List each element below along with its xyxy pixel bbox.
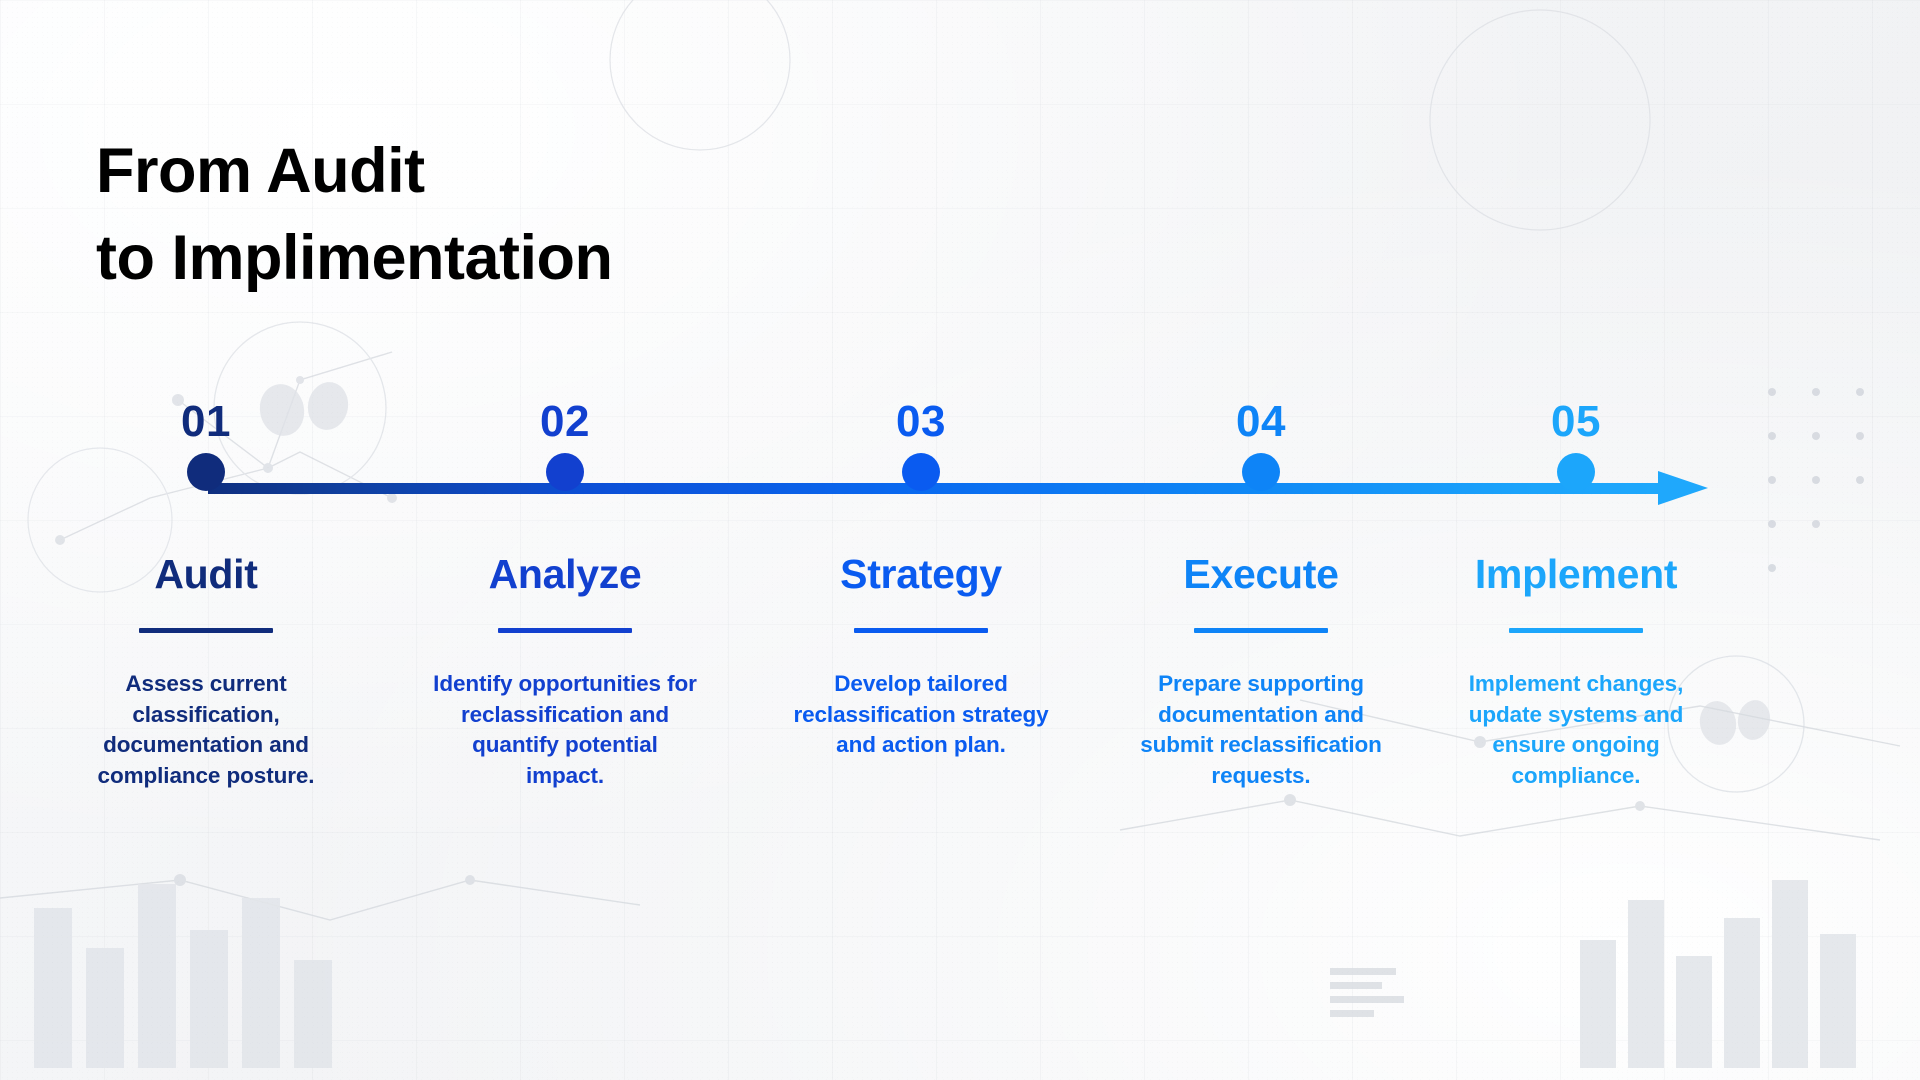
- step-number: 02: [415, 400, 715, 444]
- step-dot-icon[interactable]: [1242, 453, 1280, 491]
- timeline-step-01[interactable]: 01 Audit Assess current classification, …: [56, 400, 356, 791]
- step-dot-wrap: [1426, 444, 1726, 500]
- step-description: Identify opportunities for reclassificat…: [415, 669, 715, 791]
- step-dot-wrap: [415, 444, 715, 500]
- process-timeline: 01 Audit Assess current classification, …: [0, 0, 1920, 1080]
- step-divider: [498, 628, 632, 633]
- step-title: Strategy: [771, 554, 1071, 595]
- step-dot-wrap: [1111, 444, 1411, 500]
- step-divider: [139, 628, 273, 633]
- step-dot-icon[interactable]: [187, 453, 225, 491]
- step-divider: [1194, 628, 1328, 633]
- step-number: 01: [56, 400, 356, 444]
- step-description: Develop tailored reclassification strate…: [771, 669, 1071, 761]
- step-description: Implement changes, update systems and en…: [1426, 669, 1726, 791]
- step-dot-icon[interactable]: [1557, 453, 1595, 491]
- step-number: 03: [771, 400, 1071, 444]
- timeline-step-02[interactable]: 02 Analyze Identify opportunities for re…: [415, 400, 715, 791]
- step-dot-icon[interactable]: [546, 453, 584, 491]
- step-description: Prepare supporting documentation and sub…: [1111, 669, 1411, 791]
- timeline-step-05[interactable]: 05 Implement Implement changes, update s…: [1426, 400, 1726, 791]
- timeline-step-03[interactable]: 03 Strategy Develop tailored reclassific…: [771, 400, 1071, 761]
- step-dot-wrap: [771, 444, 1071, 500]
- slide-content: From Audit to Implimentation 01 Audit As…: [0, 0, 1920, 1080]
- step-title: Implement: [1426, 554, 1726, 595]
- step-divider: [854, 628, 988, 633]
- step-title: Audit: [56, 554, 356, 595]
- step-number: 04: [1111, 400, 1411, 444]
- step-title: Execute: [1111, 554, 1411, 595]
- step-divider: [1509, 628, 1643, 633]
- step-dot-wrap: [56, 444, 356, 500]
- step-dot-icon[interactable]: [902, 453, 940, 491]
- step-number: 05: [1426, 400, 1726, 444]
- step-title: Analyze: [415, 554, 715, 595]
- timeline-step-04[interactable]: 04 Execute Prepare supporting documentat…: [1111, 400, 1411, 791]
- step-description: Assess current classification, documenta…: [56, 669, 356, 791]
